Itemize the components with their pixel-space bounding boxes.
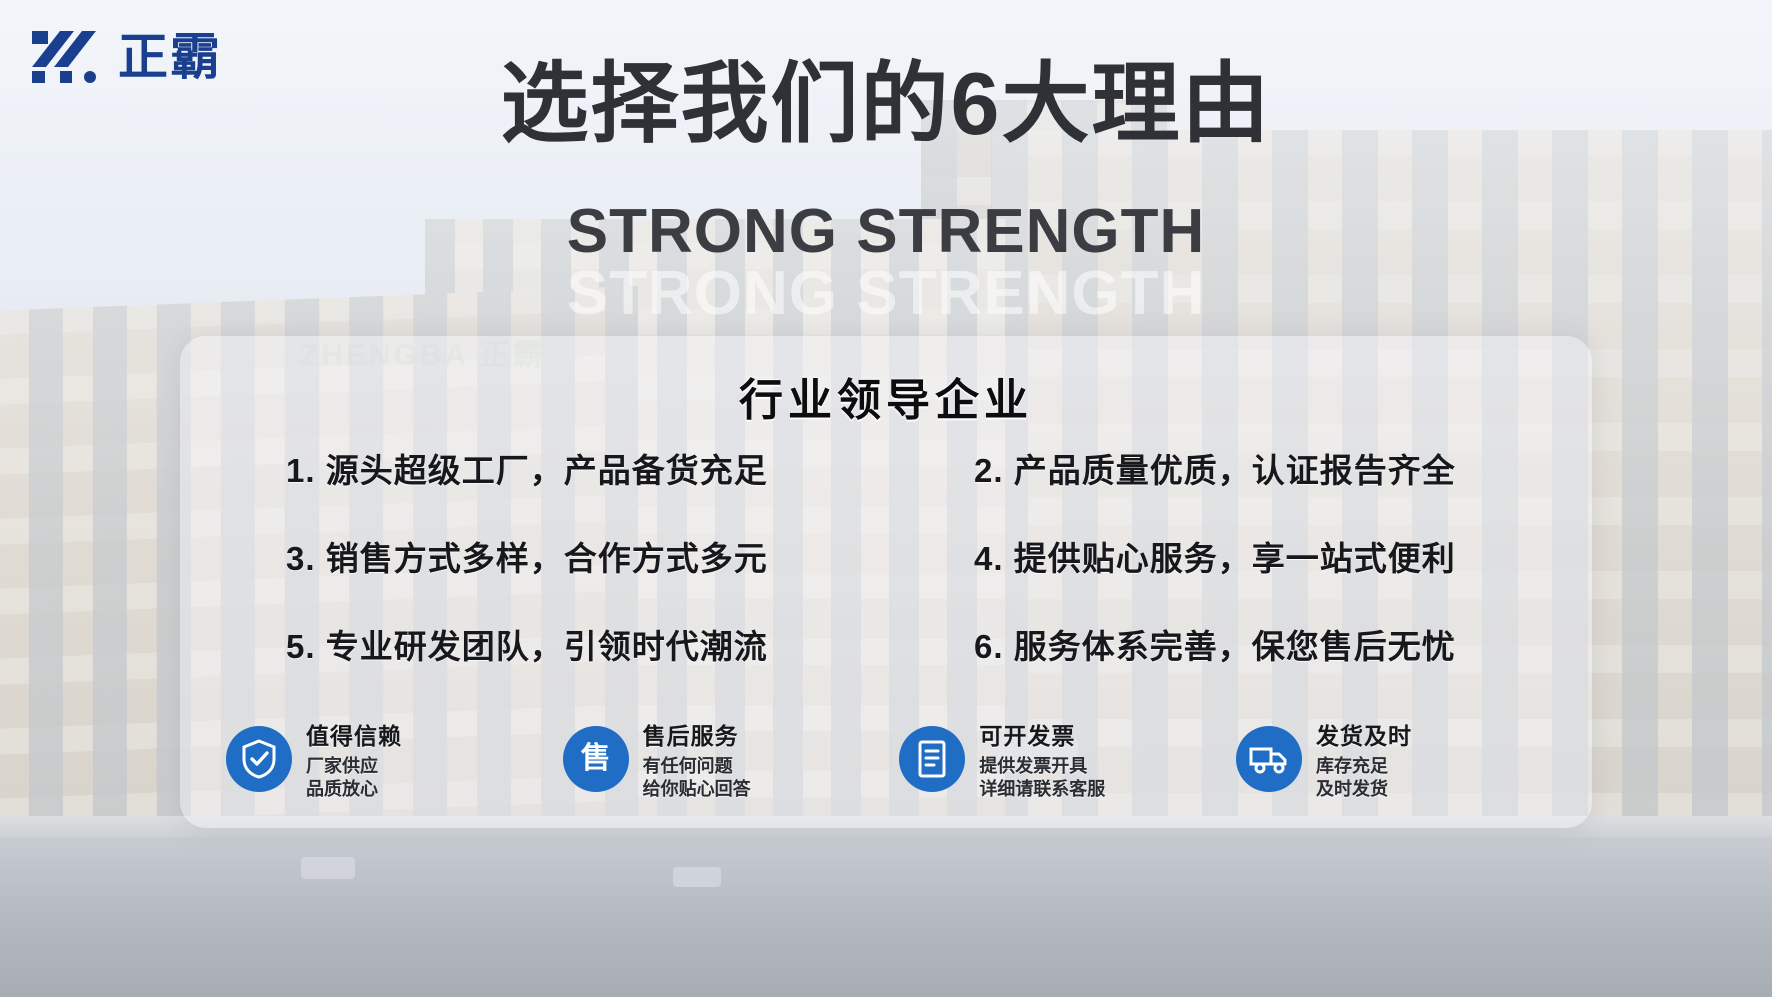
feature-after-sales[interactable]: 售 售后服务 有任何问题 给你贴心回答 [563,717,873,803]
after-sales-icon: 售 [563,726,629,792]
reason-item-6: 6. 服务体系完善，保您售后无忧 [896,620,1512,668]
feature-text: 可开发票 提供发票开具 详细请联系客服 [979,717,1105,803]
page-title-text: 选择我们的6大理由 [501,54,1272,153]
page-title-wrap: 选择我们的6大理由 [0,58,1772,150]
feature-text: 值得信赖 厂家供应 品质放心 [306,717,402,803]
feature-line-2: 品质放心 [306,778,402,802]
invoice-document-icon [899,726,965,792]
delivery-truck-icon [1236,726,1302,792]
features-row: 值得信赖 厂家供应 品质放心 售 售后服务 有任何问题 给你贴心回答 [226,717,1546,803]
feature-line-2: 详细请联系客服 [979,778,1105,802]
reason-item-1: 1. 源头超级工厂，产品备货充足 [260,444,876,492]
feature-line-1: 库存充足 [1316,755,1412,779]
reason-item-2: 2. 产品质量优质，认证报告齐全 [896,444,1512,492]
reason-item-4: 4. 提供贴心服务，享一站式便利 [896,532,1512,580]
after-sales-glyph: 售 [581,744,611,774]
feature-line-1: 提供发票开具 [979,755,1105,779]
feature-line-2: 及时发货 [1316,778,1412,802]
feature-delivery[interactable]: 发货及时 库存充足 及时发货 [1236,717,1546,803]
reason-item-3: 3. 销售方式多样，合作方式多元 [260,532,876,580]
feature-invoice[interactable]: 可开发票 提供发票开具 详细请联系客服 [899,717,1209,803]
feature-line-2: 给你贴心回答 [643,778,751,802]
feature-line-1: 有任何问题 [643,755,751,779]
strength-card: 行业领导企业 1. 源头超级工厂，产品备货充足 2. 产品质量优质，认证报告齐全… [180,336,1592,828]
feature-title: 发货及时 [1316,717,1412,751]
reason-item-5: 5. 专业研发团队，引领时代潮流 [260,620,876,668]
card-title: 行业领导企业 [180,364,1592,428]
feature-title: 售后服务 [643,717,751,751]
feature-text: 售后服务 有任何问题 给你贴心回答 [643,717,751,803]
page-title: 选择我们的6大理由 [501,58,1272,150]
shield-check-icon [226,726,292,792]
feature-title: 值得信赖 [306,717,402,751]
feature-line-1: 厂家供应 [306,755,402,779]
feature-title: 可开发票 [979,717,1105,751]
reasons-grid: 1. 源头超级工厂，产品备货充足 2. 产品质量优质，认证报告齐全 3. 销售方… [260,444,1512,668]
page-subtitle: STRONG STRENGTH [0,196,1772,267]
feature-trust[interactable]: 值得信赖 厂家供应 品质放心 [226,717,536,803]
feature-text: 发货及时 库存充足 及时发货 [1316,717,1412,803]
